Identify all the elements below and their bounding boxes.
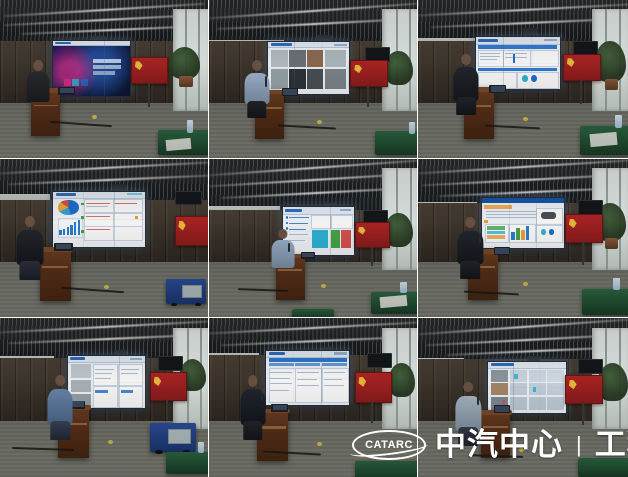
speaker-person: [454, 54, 479, 114]
equipment-cart: [150, 423, 196, 452]
speaker-person: [458, 217, 483, 277]
green-table: [166, 452, 209, 474]
hammer-sickle-emblem: [354, 65, 362, 74]
meeting-room-scene: [418, 0, 628, 158]
meeting-room-scene: [418, 159, 628, 317]
photo-collage: CATARC 中汽中心 | 工程院: [0, 0, 628, 477]
meeting-room-scene: [209, 318, 417, 477]
slide-content-2: [268, 42, 349, 94]
collage-panel-2[interactable]: [209, 0, 418, 159]
green-table: [375, 131, 418, 155]
party-banner: [350, 60, 387, 87]
collage-panel-9[interactable]: [418, 318, 628, 477]
podium: [40, 247, 71, 301]
hammer-sickle-emblem: [569, 380, 577, 389]
green-table-front: [292, 309, 334, 318]
laptop: [489, 85, 506, 93]
green-table: [578, 458, 628, 477]
paper-sheet: [590, 132, 618, 147]
pie-chart: [58, 200, 78, 214]
hammer-sickle-emblem: [358, 227, 365, 235]
video-wall-screen-4: [52, 191, 146, 248]
equipment-cart: [166, 279, 206, 304]
party-banner: [131, 57, 168, 84]
potted-plant: [169, 47, 200, 79]
meeting-room-scene: [209, 0, 417, 158]
laptop: [54, 243, 73, 251]
meeting-room-scene: [418, 318, 628, 477]
meeting-room-scene: [209, 159, 417, 317]
water-bottle: [409, 122, 415, 135]
wall-tv: [158, 356, 183, 371]
speaker-person: [27, 60, 50, 114]
meeting-room-scene: [0, 318, 208, 477]
hammer-sickle-emblem: [567, 58, 575, 67]
water-bottle: [187, 120, 193, 133]
laptop: [58, 87, 75, 95]
slide-content-8: [266, 351, 349, 405]
collage-panel-1[interactable]: [0, 0, 209, 159]
party-banner: [565, 214, 603, 243]
speaker-person: [17, 216, 44, 279]
party-banner: [355, 372, 392, 403]
slide-content-4: [53, 192, 145, 247]
party-banner: [355, 222, 390, 248]
speaker-person: [456, 382, 481, 446]
meeting-room-scene: [0, 0, 208, 158]
meeting-room-scene: [0, 159, 208, 317]
video-wall-screen-2: [267, 41, 350, 95]
hammer-sickle-emblem: [569, 219, 577, 228]
laptop: [301, 252, 316, 258]
water-bottle: [613, 278, 619, 291]
podium: [481, 410, 510, 458]
wall-tv: [367, 353, 392, 368]
wall-tv: [578, 200, 603, 215]
water-bottle: [198, 442, 204, 453]
video-wall-screen-6: [481, 197, 565, 250]
plant-pot: [605, 238, 618, 249]
plant-pot: [179, 76, 194, 87]
plant-pot: [605, 79, 618, 90]
hammer-sickle-emblem: [358, 377, 366, 387]
paper-sheet: [166, 138, 192, 151]
wall-tv: [363, 210, 388, 223]
green-table: [355, 461, 418, 477]
speaker-person: [48, 375, 73, 439]
collage-panel-4[interactable]: [0, 159, 209, 318]
party-banner: [150, 372, 187, 401]
video-wall-screen-8: [265, 350, 350, 406]
laptop: [494, 405, 511, 413]
collage-panel-5[interactable]: [209, 159, 418, 318]
water-bottle: [615, 115, 621, 128]
speaker-person: [271, 229, 294, 280]
speaker-person: [244, 60, 269, 117]
hammer-sickle-emblem: [135, 61, 143, 70]
collage-panel-7[interactable]: [0, 318, 209, 477]
water-bottle: [400, 282, 406, 293]
collage-panel-8[interactable]: [209, 318, 418, 477]
video-wall-screen-3: [475, 36, 561, 90]
laptop: [494, 247, 511, 255]
collage-panel-3[interactable]: [418, 0, 628, 159]
laptop: [282, 88, 299, 96]
hammer-sickle-emblem: [154, 377, 162, 386]
hammer-sickle-emblem: [178, 221, 185, 231]
slide-content-3: [476, 37, 560, 89]
wall-speaker: [175, 191, 202, 206]
collage-panel-6[interactable]: [418, 159, 628, 318]
green-table: [582, 289, 628, 316]
speaker-person: [240, 375, 265, 439]
slide-content-6: [482, 198, 564, 249]
party-banner: [563, 54, 601, 81]
laptop: [271, 404, 288, 412]
projector: [523, 28, 538, 34]
wall-tv: [578, 359, 603, 374]
party-banner: [175, 216, 209, 246]
party-banner: [565, 375, 603, 404]
